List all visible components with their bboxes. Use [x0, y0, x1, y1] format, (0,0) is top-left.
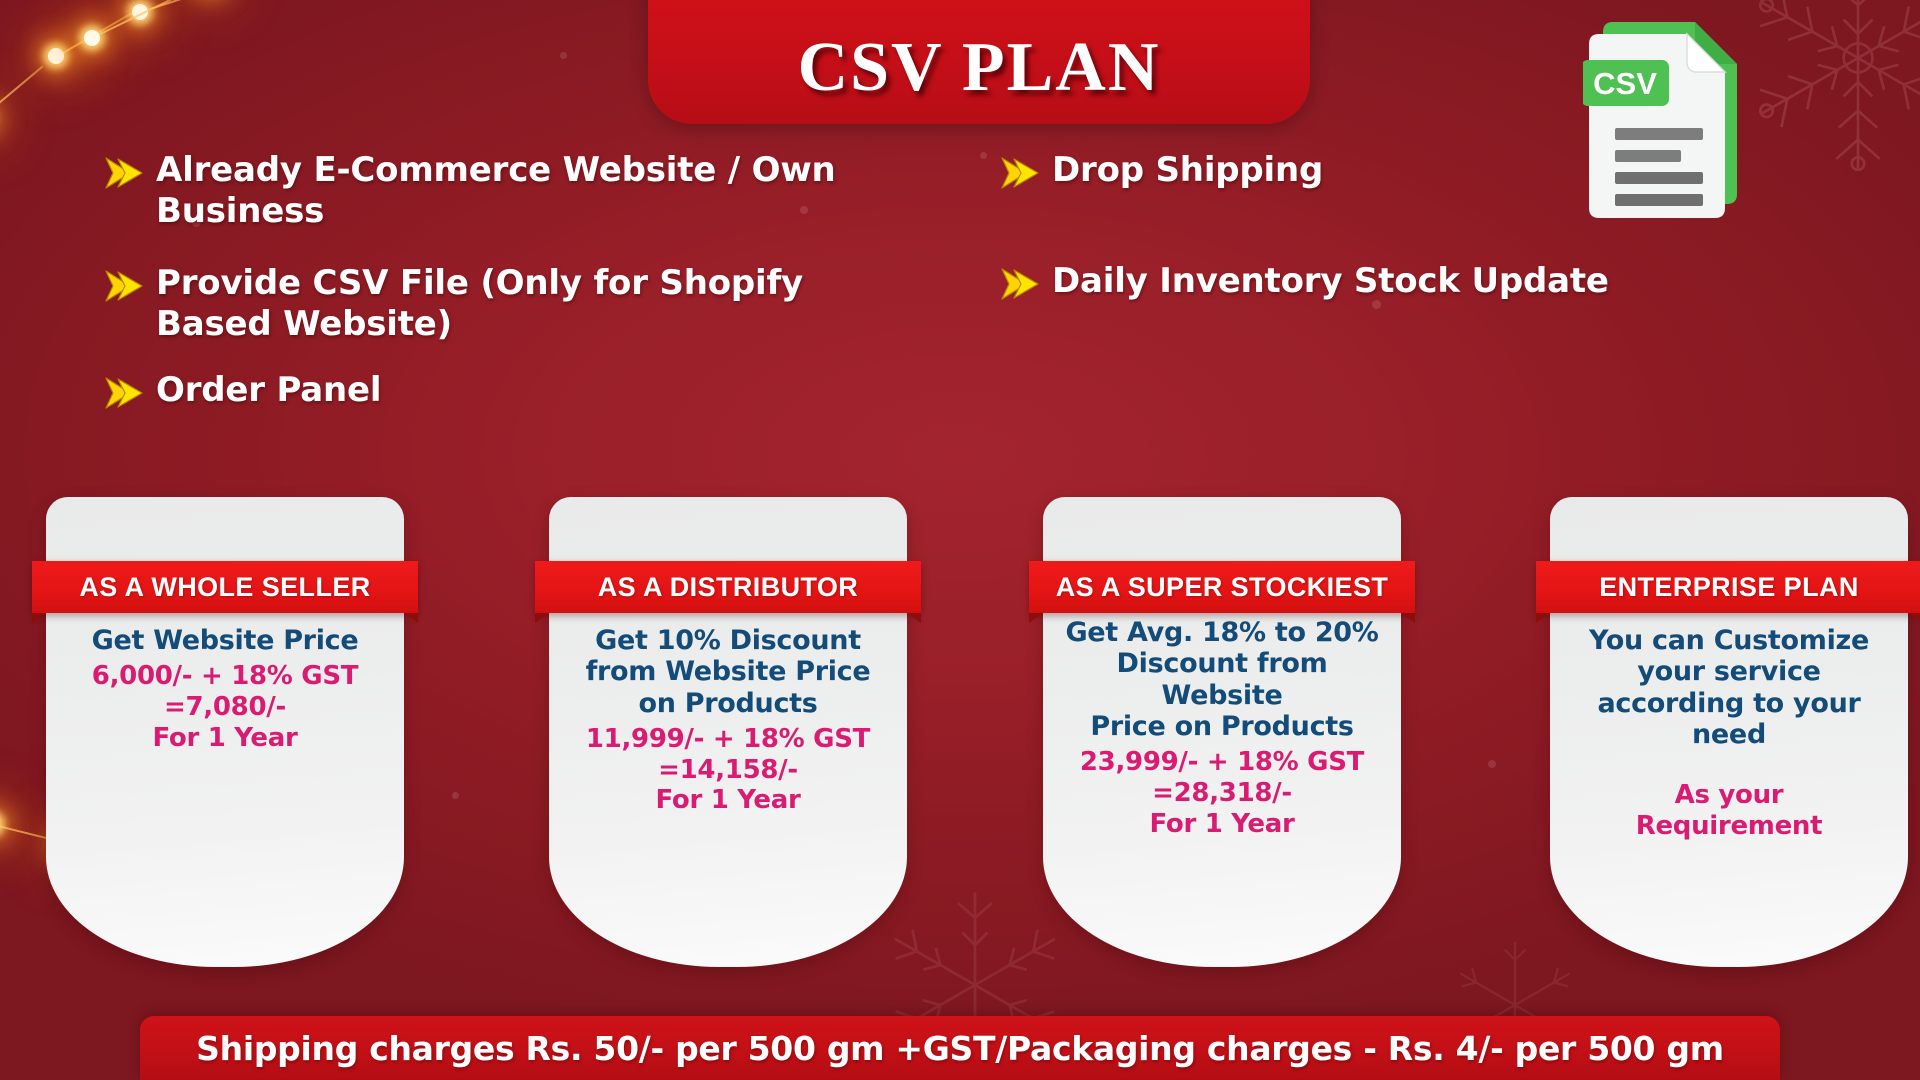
plan-headline: Get Website Price: [52, 625, 398, 656]
footer-banner: Shipping charges Rs. 50/- per 500 gm +GS…: [140, 1016, 1780, 1080]
plan-price: 11,999/- + 18% GST =14,158/- For 1 Year: [555, 724, 901, 816]
feature-item: Order Panel: [104, 370, 864, 411]
plan-ribbon: AS A WHOLE SELLER: [32, 561, 418, 613]
pricing-card-row: AS A WHOLE SELLER Get Website Price 6,00…: [0, 497, 1920, 967]
chevron-right-icon: [104, 269, 144, 303]
plan-ribbon-label: AS A DISTRIBUTOR: [598, 572, 858, 603]
bokeh-dot: [560, 52, 567, 59]
pricing-card-enterprise[interactable]: ENTERPRISE PLAN You can Customize your s…: [1550, 497, 1908, 967]
feature-item: Already E-Commerce Website / Own Busines…: [104, 150, 864, 233]
plan-headline: Get Avg. 18% to 20% Discount from Websit…: [1049, 617, 1395, 742]
pricing-card-super-stockiest[interactable]: AS A SUPER STOCKIEST Get Avg. 18% to 20%…: [1043, 497, 1401, 967]
plan-price: 23,999/- + 18% GST =28,318/- For 1 Year: [1049, 747, 1395, 839]
plan-headline: You can Customize your service according…: [1556, 625, 1902, 750]
card-content: Get Website Price 6,000/- + 18% GST =7,0…: [52, 625, 398, 753]
csv-icon-label: CSV: [1593, 66, 1657, 101]
csv-plan-poster: CSV PLAN CSV: [0, 0, 1920, 1080]
chevron-right-icon: [104, 376, 144, 410]
feature-list-left: Already E-Commerce Website / Own Busines…: [104, 150, 864, 435]
title-banner: CSV PLAN: [648, 0, 1310, 124]
bokeh-dot: [980, 152, 987, 159]
feature-label: Already E-Commerce Website / Own Busines…: [156, 150, 864, 233]
page-title: CSV PLAN: [798, 28, 1161, 108]
chevron-right-icon: [1000, 156, 1040, 190]
feature-item: Provide CSV File (Only for Shopify Based…: [104, 263, 864, 346]
feature-item: Drop Shipping: [1000, 150, 1730, 191]
string-lights-decoration: [84, 0, 264, 86]
plan-ribbon-label: AS A SUPER STOCKIEST: [1056, 572, 1389, 603]
footer-text: Shipping charges Rs. 50/- per 500 gm +GS…: [196, 1029, 1724, 1068]
feature-label: Drop Shipping: [1052, 150, 1323, 191]
card-content: You can Customize your service according…: [1556, 625, 1902, 842]
plan-ribbon: AS A DISTRIBUTOR: [535, 561, 921, 613]
card-content: Get Avg. 18% to 20% Discount from Websit…: [1049, 617, 1395, 839]
feature-item: Daily Inventory Stock Update: [1000, 261, 1730, 302]
chevron-right-icon: [1000, 267, 1040, 301]
plan-headline: Get 10% Discount from Website Price on P…: [555, 625, 901, 719]
string-lights-decoration: [0, 0, 210, 150]
snowflake-icon: [1738, 0, 1920, 178]
feature-list-right: Drop Shipping Daily Inventory Stock Upda…: [1000, 150, 1730, 373]
plan-ribbon-label: ENTERPRISE PLAN: [1599, 572, 1859, 603]
feature-label: Order Panel: [156, 370, 381, 411]
plan-ribbon: ENTERPRISE PLAN: [1536, 561, 1920, 613]
plan-ribbon-label: AS A WHOLE SELLER: [79, 572, 370, 603]
pricing-card-whole-seller[interactable]: AS A WHOLE SELLER Get Website Price 6,00…: [46, 497, 404, 967]
plan-price: As your Requirement: [1556, 780, 1902, 841]
feature-label: Daily Inventory Stock Update: [1052, 261, 1609, 302]
feature-label: Provide CSV File (Only for Shopify Based…: [156, 263, 864, 346]
plan-ribbon: AS A SUPER STOCKIEST: [1029, 561, 1415, 613]
card-content: Get 10% Discount from Website Price on P…: [555, 625, 901, 816]
chevron-right-icon: [104, 156, 144, 190]
pricing-card-distributor[interactable]: AS A DISTRIBUTOR Get 10% Discount from W…: [549, 497, 907, 967]
plan-price: 6,000/- + 18% GST =7,080/- For 1 Year: [52, 661, 398, 753]
